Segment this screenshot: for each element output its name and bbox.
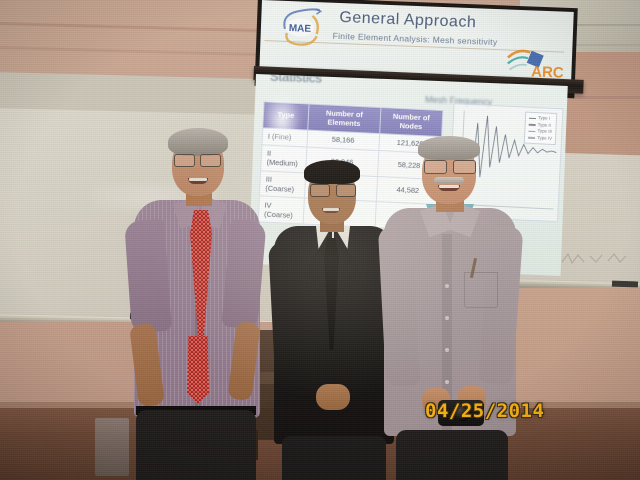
eyeglasses xyxy=(424,160,476,172)
hair xyxy=(418,136,480,160)
legend-label: Type IV xyxy=(537,135,552,142)
camera-date-stamp: 04/25/2014 xyxy=(425,400,544,422)
person-left xyxy=(128,128,260,480)
shirt-button xyxy=(445,380,449,384)
whiteboard-writing xyxy=(560,248,630,270)
mae-logo: MAE xyxy=(278,7,324,49)
legend-swatch xyxy=(528,131,535,133)
lens-right xyxy=(453,160,476,174)
slide-title: General Approach xyxy=(339,9,477,32)
teeth xyxy=(323,208,339,211)
lens-right xyxy=(336,184,356,197)
whiteboard-marker xyxy=(612,281,638,288)
lens-left xyxy=(424,160,447,174)
table-header-nodes: Number of Nodes xyxy=(379,108,442,137)
eyeglasses xyxy=(174,154,224,165)
hair xyxy=(168,128,228,156)
necktie-lower-pattern xyxy=(186,336,210,404)
clasped-hands xyxy=(316,384,350,410)
photograph: MAE General Approach Finite Element Anal… xyxy=(0,0,640,480)
teeth xyxy=(189,178,207,181)
legend-swatch xyxy=(528,137,535,139)
lens-right xyxy=(200,154,221,167)
sleeve-left xyxy=(124,219,172,334)
chart-legend: Type I Type II Type III Type IV xyxy=(524,112,557,146)
trousers xyxy=(282,436,386,480)
person-center xyxy=(272,158,396,480)
shirt-button xyxy=(445,348,449,352)
legend-item: Type IV xyxy=(528,135,552,143)
trousers xyxy=(136,410,256,480)
table-header-elements: Number of Elements xyxy=(308,104,381,134)
trousers xyxy=(396,430,508,480)
shirt-button xyxy=(445,316,449,320)
mustache xyxy=(434,177,464,184)
shirt-button xyxy=(445,284,449,288)
eyeglasses xyxy=(310,184,356,195)
screen-glare xyxy=(262,92,302,148)
hair xyxy=(304,160,360,184)
lens-left xyxy=(174,154,195,167)
lens-left xyxy=(310,184,330,197)
person-right xyxy=(382,134,518,480)
legend-swatch xyxy=(529,124,536,126)
svg-text:MAE: MAE xyxy=(289,23,312,35)
legend-swatch xyxy=(529,117,536,119)
slide-section-heading: Statistics xyxy=(270,74,323,86)
stool xyxy=(95,418,129,476)
teeth xyxy=(439,185,459,188)
